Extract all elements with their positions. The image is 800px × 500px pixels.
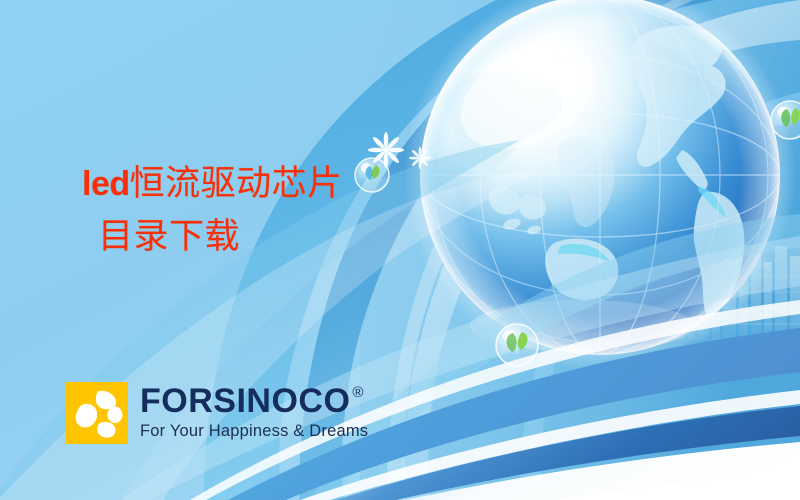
logo-tagline: For Your Happiness & Dreams [140,422,368,441]
starburst-decorations [368,132,431,169]
starburst-small [409,147,431,169]
globe-landmasses [445,16,753,319]
bubble-leaf-right-edge [771,101,800,139]
headline-line-2: 目录下载 [98,215,343,261]
headline-line-1: led恒流驱动芯片 [82,162,343,208]
logo-wordmark: FORSINOCO ® [140,384,368,418]
headline-cjk: 恒流驱动芯片 [130,164,343,204]
headline-text: led恒流驱动芯片 目录下载 [82,162,343,260]
city-skyline-silhouette [600,214,800,340]
starburst-large [368,132,404,168]
headline-latin: led [82,165,130,203]
pinwheel-flower-icon [66,382,128,444]
bubble-leaf-upper [355,158,389,192]
earth-globe-icon [404,0,796,371]
registered-trademark-symbol: ® [352,385,364,400]
logo-wordmark-text: FORSINOCO [140,384,350,418]
bubble-leaf-lower [496,324,538,366]
logo-text-block: FORSINOCO ® For Your Happiness & Dreams [140,382,368,441]
background-right-wash [360,0,800,500]
promo-banner: led恒流驱动芯片 目录下载 FORSINOCO ® For Your Happ… [0,0,800,500]
logo-mark-square [66,382,128,444]
globe-land-accents [558,40,742,262]
globe-graticule [420,0,780,355]
diagonal-swoosh-bands [120,236,800,500]
forsinoco-logo: FORSINOCO ® For Your Happiness & Dreams [66,382,368,444]
